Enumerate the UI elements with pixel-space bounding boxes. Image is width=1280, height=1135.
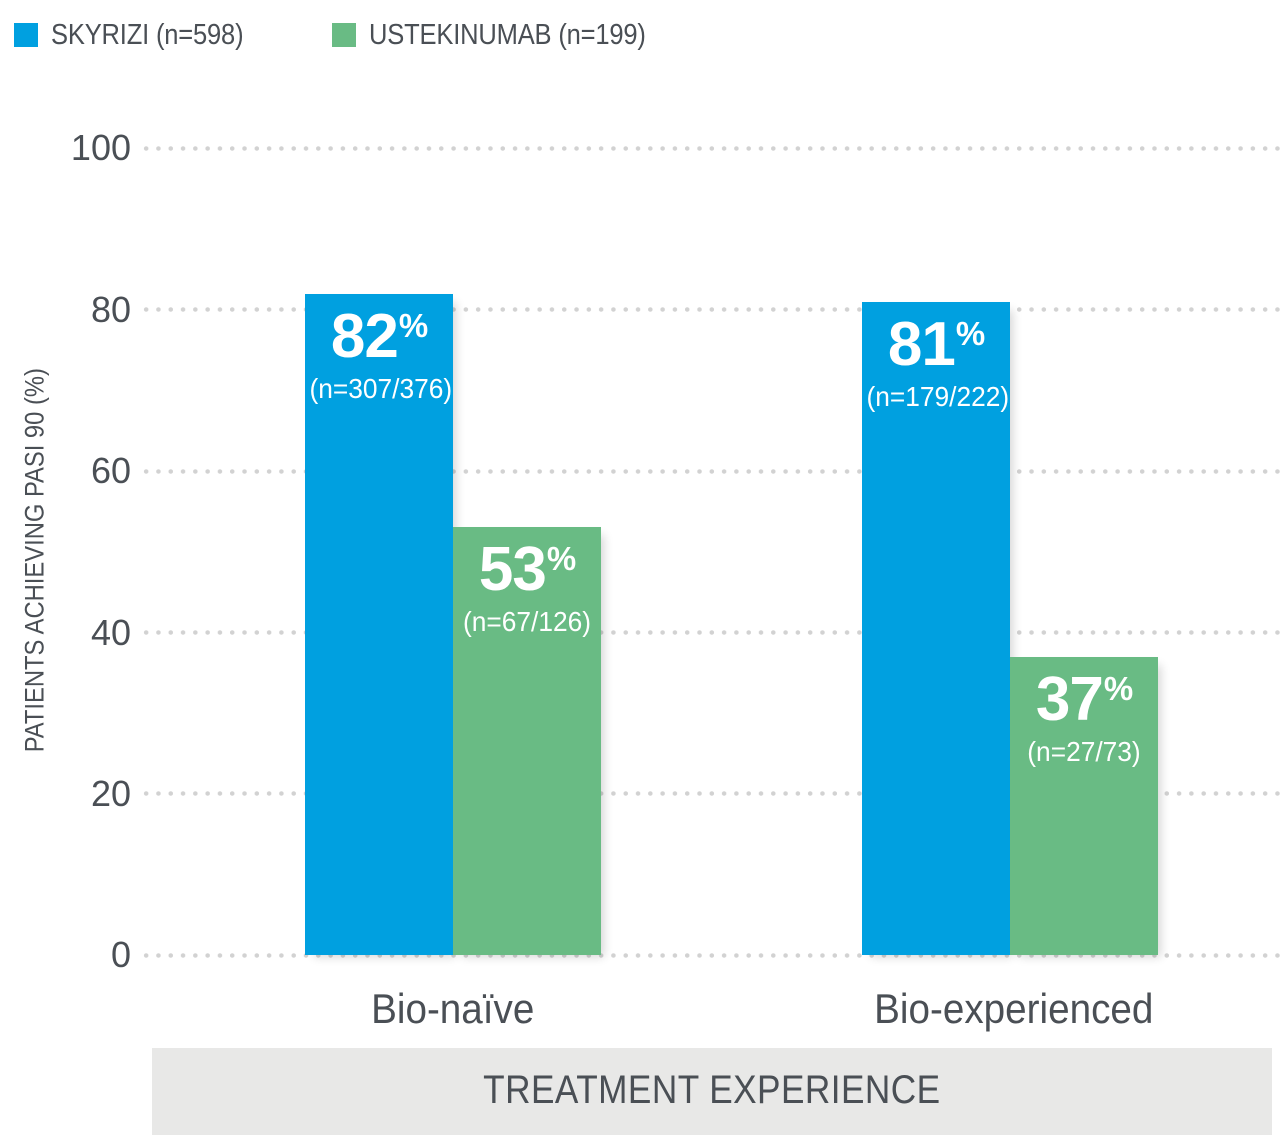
bar-value-skyrizi-bio-experienced: 81	[888, 310, 955, 379]
x-category-label-bio-naive: Bio-naïve	[305, 988, 601, 1030]
y-tick-label-40: 40	[11, 615, 131, 651]
gridline-100	[140, 146, 1280, 151]
bar-value-ustekinumab-bio-naive: 53	[479, 535, 546, 604]
bar-label-ustekinumab-bio-experienced: 37% (n=27/73)	[1010, 671, 1158, 768]
bar-label-ustekinumab-bio-naive: 53% (n=67/126)	[453, 541, 601, 638]
bar-annotation-skyrizi-bio-naive: (n=307/376)	[309, 373, 448, 405]
bar-value-skyrizi-bio-naive: 82	[331, 302, 398, 371]
bar-annotation-ustekinumab-bio-experienced: (n=27/73)	[1014, 736, 1153, 768]
bar-label-skyrizi-bio-naive: 82% (n=307/376)	[305, 308, 453, 405]
x-category-label-bio-experienced: Bio-experienced	[862, 988, 1158, 1030]
bar-annotation-skyrizi-bio-experienced: (n=179/222)	[866, 381, 1005, 413]
bar-value-ustekinumab-bio-experienced: 37	[1036, 665, 1103, 734]
bar-skyrizi-bio-experienced[interactable]: 81% (n=179/222)	[862, 302, 1010, 955]
bar-ustekinumab-bio-naive[interactable]: 53% (n=67/126)	[453, 527, 601, 955]
percent-sign-icon: %	[1104, 670, 1133, 707]
y-axis-title-text: PATIENTS ACHIEVING PASI 90 (%)	[20, 368, 51, 752]
y-tick-label-20: 20	[11, 776, 131, 812]
bar-ustekinumab-bio-experienced[interactable]: 37% (n=27/73)	[1010, 657, 1158, 955]
x-category-label-bio-naive-text: Bio-naïve	[371, 988, 534, 1030]
y-tick-label-0: 0	[11, 937, 131, 973]
bar-chart: PATIENTS ACHIEVING PASI 90 (%) 100 80 60…	[0, 0, 1280, 1135]
x-axis-band-label-text: TREATMENT EXPERIENCE	[483, 1068, 940, 1113]
x-axis-band: TREATMENT EXPERIENCE	[152, 1048, 1272, 1135]
percent-sign-icon: %	[399, 307, 428, 344]
y-tick-label-100: 100	[11, 130, 131, 166]
percent-sign-icon: %	[956, 315, 985, 352]
percent-sign-icon: %	[547, 540, 576, 577]
bar-annotation-ustekinumab-bio-naive: (n=67/126)	[457, 606, 596, 638]
bar-skyrizi-bio-naive[interactable]: 82% (n=307/376)	[305, 294, 453, 955]
y-tick-label-80: 80	[11, 292, 131, 328]
y-tick-label-60: 60	[11, 453, 131, 489]
x-axis-band-label: TREATMENT EXPERIENCE	[152, 1068, 1272, 1113]
x-category-label-bio-experienced-text: Bio-experienced	[874, 988, 1153, 1030]
bar-label-skyrizi-bio-experienced: 81% (n=179/222)	[862, 316, 1010, 413]
